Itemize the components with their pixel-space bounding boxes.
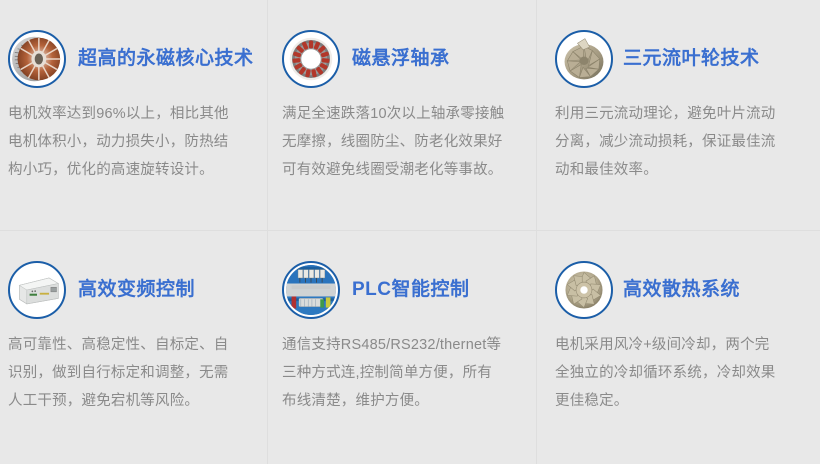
card-title: PLC智能控制: [352, 279, 470, 302]
card-description: 高可靠性、高稳定性、自标定、自 识别，做到自行标定和调整，无需 人工干预，避免宕…: [8, 331, 257, 415]
card-header: 高效散热系统: [555, 259, 810, 321]
card-description: 满足全速跌落10次以上轴承零接触 无摩擦，线圈防尘、防老化效果好 可有效避免线圈…: [282, 100, 526, 184]
desc-line: 电机体积小，动力损失小，防热结: [8, 128, 257, 156]
card-title: 高效变频控制: [78, 279, 195, 302]
feature-grid: 超高的永磁核心技术 电机效率达到96%以上，相比其他 电机体积小，动力损失小，防…: [0, 0, 820, 464]
card-description: 利用三元流动理论，避免叶片流动 分离，减少流动损耗，保证最佳流 动和最佳效率。: [555, 100, 810, 184]
desc-line: 无摩擦，线圈防尘、防老化效果好: [282, 128, 526, 156]
feature-card-impeller[interactable]: 三元流叶轮技术 利用三元流动理论，避免叶片流动 分离，减少流动损耗，保证最佳流 …: [537, 0, 820, 231]
desc-line: 满足全速跌落10次以上轴承零接触: [282, 100, 526, 128]
feature-card-magnetic-bearing[interactable]: 磁悬浮轴承 满足全速跌落10次以上轴承零接触 无摩擦，线圈防尘、防老化效果好 可…: [268, 0, 537, 231]
card-header: 磁悬浮轴承: [282, 28, 526, 90]
desc-line: 分离，减少流动损耗，保证最佳流: [555, 128, 810, 156]
desc-line: 布线清楚，维护方便。: [282, 387, 526, 415]
card-title: 三元流叶轮技术: [623, 48, 760, 71]
desc-line: 电机效率达到96%以上，相比其他: [8, 100, 257, 128]
desc-line: 三种方式连,控制简单方便，所有: [282, 359, 526, 387]
desc-line: 更佳稳定。: [555, 387, 810, 415]
desc-line: 电机采用风冷+级间冷却，两个完: [555, 331, 810, 359]
card-title: 超高的永磁核心技术: [78, 48, 254, 71]
desc-line: 高可靠性、高稳定性、自标定、自: [8, 331, 257, 359]
card-title: 磁悬浮轴承: [352, 48, 450, 71]
impeller-icon: [555, 30, 613, 88]
cooling-fan-icon: [555, 261, 613, 319]
desc-line: 通信支持RS485/RS232/thernet等: [282, 331, 526, 359]
desc-line: 可有效避免线圈受潮老化等事故。: [282, 156, 526, 184]
feature-card-vfd-control[interactable]: 高效变频控制 高可靠性、高稳定性、自标定、自 识别，做到自行标定和调整，无需 人…: [0, 231, 268, 464]
card-description: 通信支持RS485/RS232/thernet等 三种方式连,控制简单方便，所有…: [282, 331, 526, 415]
desc-line: 动和最佳效率。: [555, 156, 810, 184]
vfd-controller-icon: [8, 261, 66, 319]
motor-rotor-icon: [8, 30, 66, 88]
card-description: 电机效率达到96%以上，相比其他 电机体积小，动力损失小，防热结 构小巧，优化的…: [8, 100, 257, 184]
desc-line: 利用三元流动理论，避免叶片流动: [555, 100, 810, 128]
feature-card-cooling-system[interactable]: 高效散热系统 电机采用风冷+级间冷却，两个完 全独立的冷却循环系统，冷却效果 更…: [537, 231, 820, 464]
card-header: PLC智能控制: [282, 259, 526, 321]
desc-line: 全独立的冷却循环系统，冷却效果: [555, 359, 810, 387]
card-header: 高效变频控制: [8, 259, 257, 321]
card-header: 三元流叶轮技术: [555, 28, 810, 90]
card-title: 高效散热系统: [623, 279, 740, 302]
card-description: 电机采用风冷+级间冷却，两个完 全独立的冷却循环系统，冷却效果 更佳稳定。: [555, 331, 810, 415]
plc-cabinet-icon: [282, 261, 340, 319]
magnetic-bearing-stator-icon: [282, 30, 340, 88]
desc-line: 构小巧，优化的高速旋转设计。: [8, 156, 257, 184]
feature-card-motor-core[interactable]: 超高的永磁核心技术 电机效率达到96%以上，相比其他 电机体积小，动力损失小，防…: [0, 0, 268, 231]
desc-line: 识别，做到自行标定和调整，无需: [8, 359, 257, 387]
feature-card-plc-control[interactable]: PLC智能控制 通信支持RS485/RS232/thernet等 三种方式连,控…: [268, 231, 537, 464]
desc-line: 人工干预，避免宕机等风险。: [8, 387, 257, 415]
card-header: 超高的永磁核心技术: [8, 28, 257, 90]
